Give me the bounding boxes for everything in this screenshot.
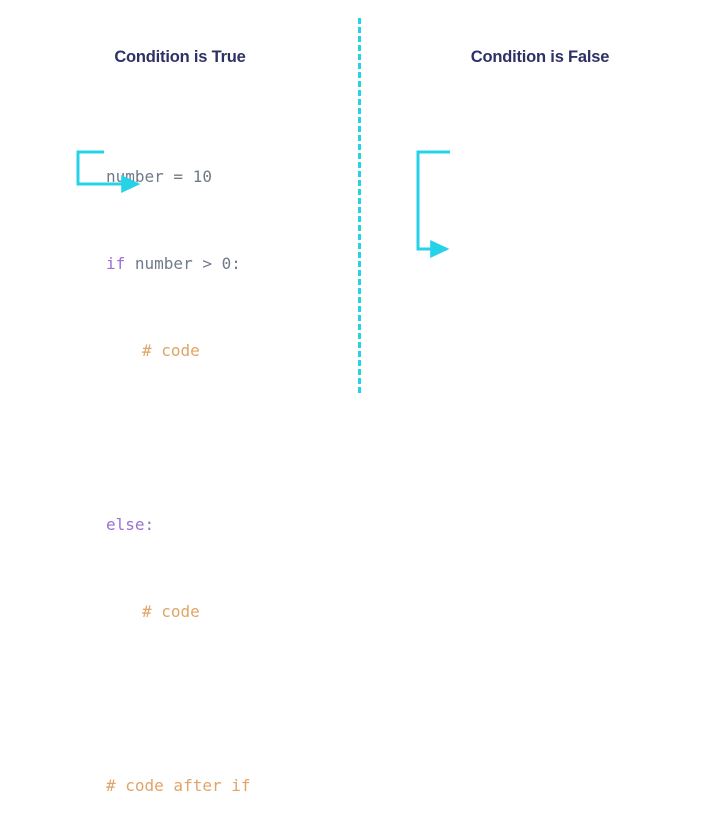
code-token-comment: # code xyxy=(142,341,200,360)
code-line: # code xyxy=(106,597,251,626)
panel-title-false: Condition is False xyxy=(360,48,720,67)
code-line: number = 10 xyxy=(106,162,251,191)
code-line: else: xyxy=(106,510,251,539)
code-token-keyword: else: xyxy=(106,515,154,534)
if-else-flow-diagram: Condition is True number = 10 if number … xyxy=(0,0,720,409)
code-token-plain: number = 10 xyxy=(106,167,212,186)
code-token-keyword: if xyxy=(106,254,125,273)
panel-condition-false: Condition is False number = -5 if number… xyxy=(360,0,720,409)
panel-title-true: Condition is True xyxy=(0,48,360,67)
code-line: # code xyxy=(106,336,251,365)
code-token-plain: number > 0: xyxy=(125,254,241,273)
code-token-comment: # code xyxy=(142,602,200,621)
code-token-comment: # code after if xyxy=(106,776,251,795)
code-line: if number > 0: xyxy=(106,249,251,278)
panel-condition-true: Condition is True number = 10 if number … xyxy=(0,0,360,409)
code-line: # code after if xyxy=(106,771,251,800)
code-line-blank xyxy=(106,684,251,713)
code-line-blank xyxy=(106,423,251,452)
code-block-true: number = 10 if number > 0: # code else: … xyxy=(106,104,251,818)
